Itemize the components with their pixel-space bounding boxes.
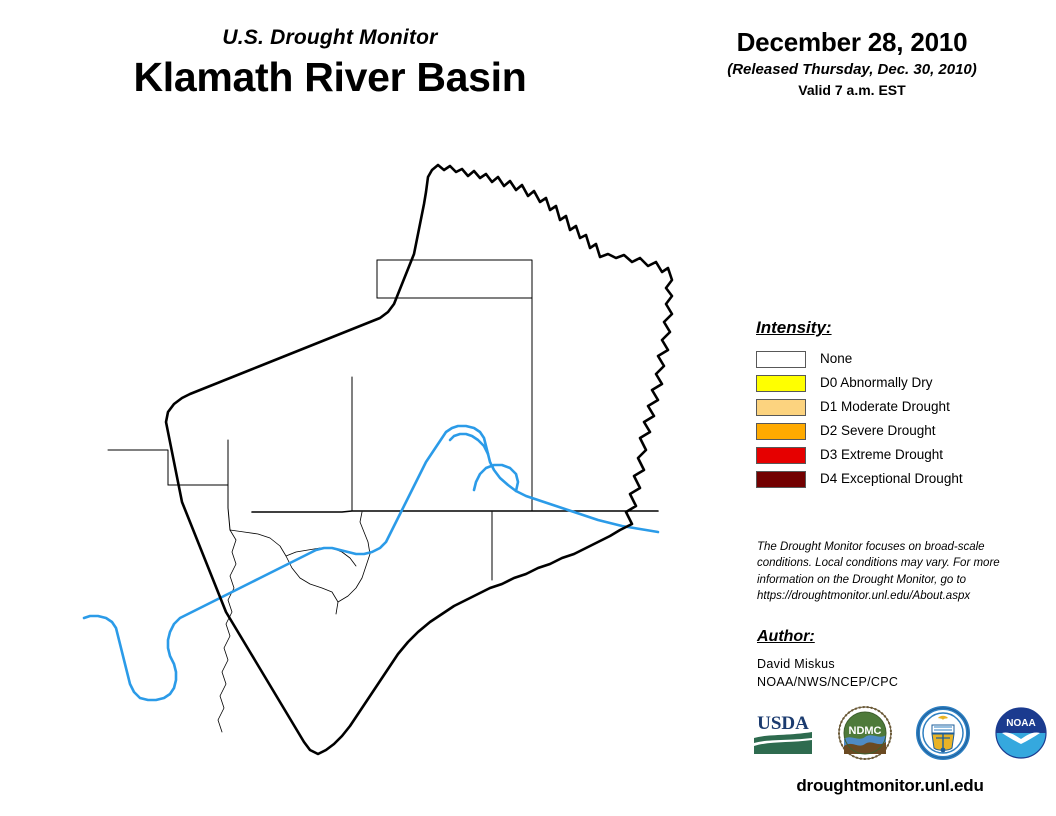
author-title: Author: xyxy=(757,628,1037,646)
legend-title: Intensity: xyxy=(756,318,1046,338)
legend-swatch-d3 xyxy=(756,447,806,464)
legend-item-d1[interactable]: D1 Moderate Drought xyxy=(756,395,1046,419)
valid-time: Valid 7 a.m. EST xyxy=(672,82,1032,98)
legend-item-none[interactable]: None xyxy=(756,347,1046,371)
footer-url[interactable]: droughtmonitor.unl.edu xyxy=(740,776,1040,796)
legend-label-d1: D1 Moderate Drought xyxy=(820,400,950,414)
legend-item-d3[interactable]: D3 Extreme Drought xyxy=(756,443,1046,467)
header-left-block: U.S. Drought Monitor Klamath River Basin xyxy=(0,26,660,101)
author-affiliation: NOAA/NWS/NCEP/CPC xyxy=(757,673,1037,691)
ndmc-logo[interactable]: NDMC xyxy=(838,706,892,760)
legend-swatch-none xyxy=(756,351,806,368)
noaa-logo[interactable]: NOAA xyxy=(994,706,1048,760)
disclaimer-text: The Drought Monitor focuses on broad-sca… xyxy=(757,539,1025,604)
legend-label-d2: D2 Severe Drought xyxy=(820,424,936,438)
map-date: December 28, 2010 xyxy=(672,28,1032,57)
legend-label-d4: D4 Exceptional Drought xyxy=(820,472,963,486)
legend-swatch-d4 xyxy=(756,471,806,488)
header-right-block: December 28, 2010 (Released Thursday, De… xyxy=(672,28,1032,98)
svg-text:USDA: USDA xyxy=(757,713,809,734)
svg-text:NOAA: NOAA xyxy=(1006,718,1035,729)
partner-logos: USDA NDMC NOAA xyxy=(752,702,1048,764)
release-date: (Released Thursday, Dec. 30, 2010) xyxy=(672,61,1032,78)
usda-logo[interactable]: USDA xyxy=(752,710,814,756)
legend-label-d0: D0 Abnormally Dry xyxy=(820,376,933,390)
legend-swatch-d0 xyxy=(756,375,806,392)
program-title: U.S. Drought Monitor xyxy=(0,26,660,49)
usdc-seal-logo[interactable] xyxy=(916,706,970,760)
author-name: David Miskus xyxy=(757,655,1037,673)
page-title: Klamath River Basin xyxy=(0,55,660,101)
legend-item-d4[interactable]: D4 Exceptional Drought xyxy=(756,467,1046,491)
legend-swatch-d1 xyxy=(756,399,806,416)
legend-item-d0[interactable]: D0 Abnormally Dry xyxy=(756,371,1046,395)
legend-label-d3: D3 Extreme Drought xyxy=(820,448,943,462)
legend-swatch-d2 xyxy=(756,423,806,440)
legend-item-d2[interactable]: D2 Severe Drought xyxy=(756,419,1046,443)
author-block: Author: David Miskus NOAA/NWS/NCEP/CPC xyxy=(757,628,1037,691)
svg-text:NDMC: NDMC xyxy=(849,725,882,737)
intensity-legend: Intensity: None D0 Abnormally Dry D1 Mod… xyxy=(756,318,1046,491)
drought-map[interactable] xyxy=(80,140,720,790)
legend-label-none: None xyxy=(820,352,852,366)
